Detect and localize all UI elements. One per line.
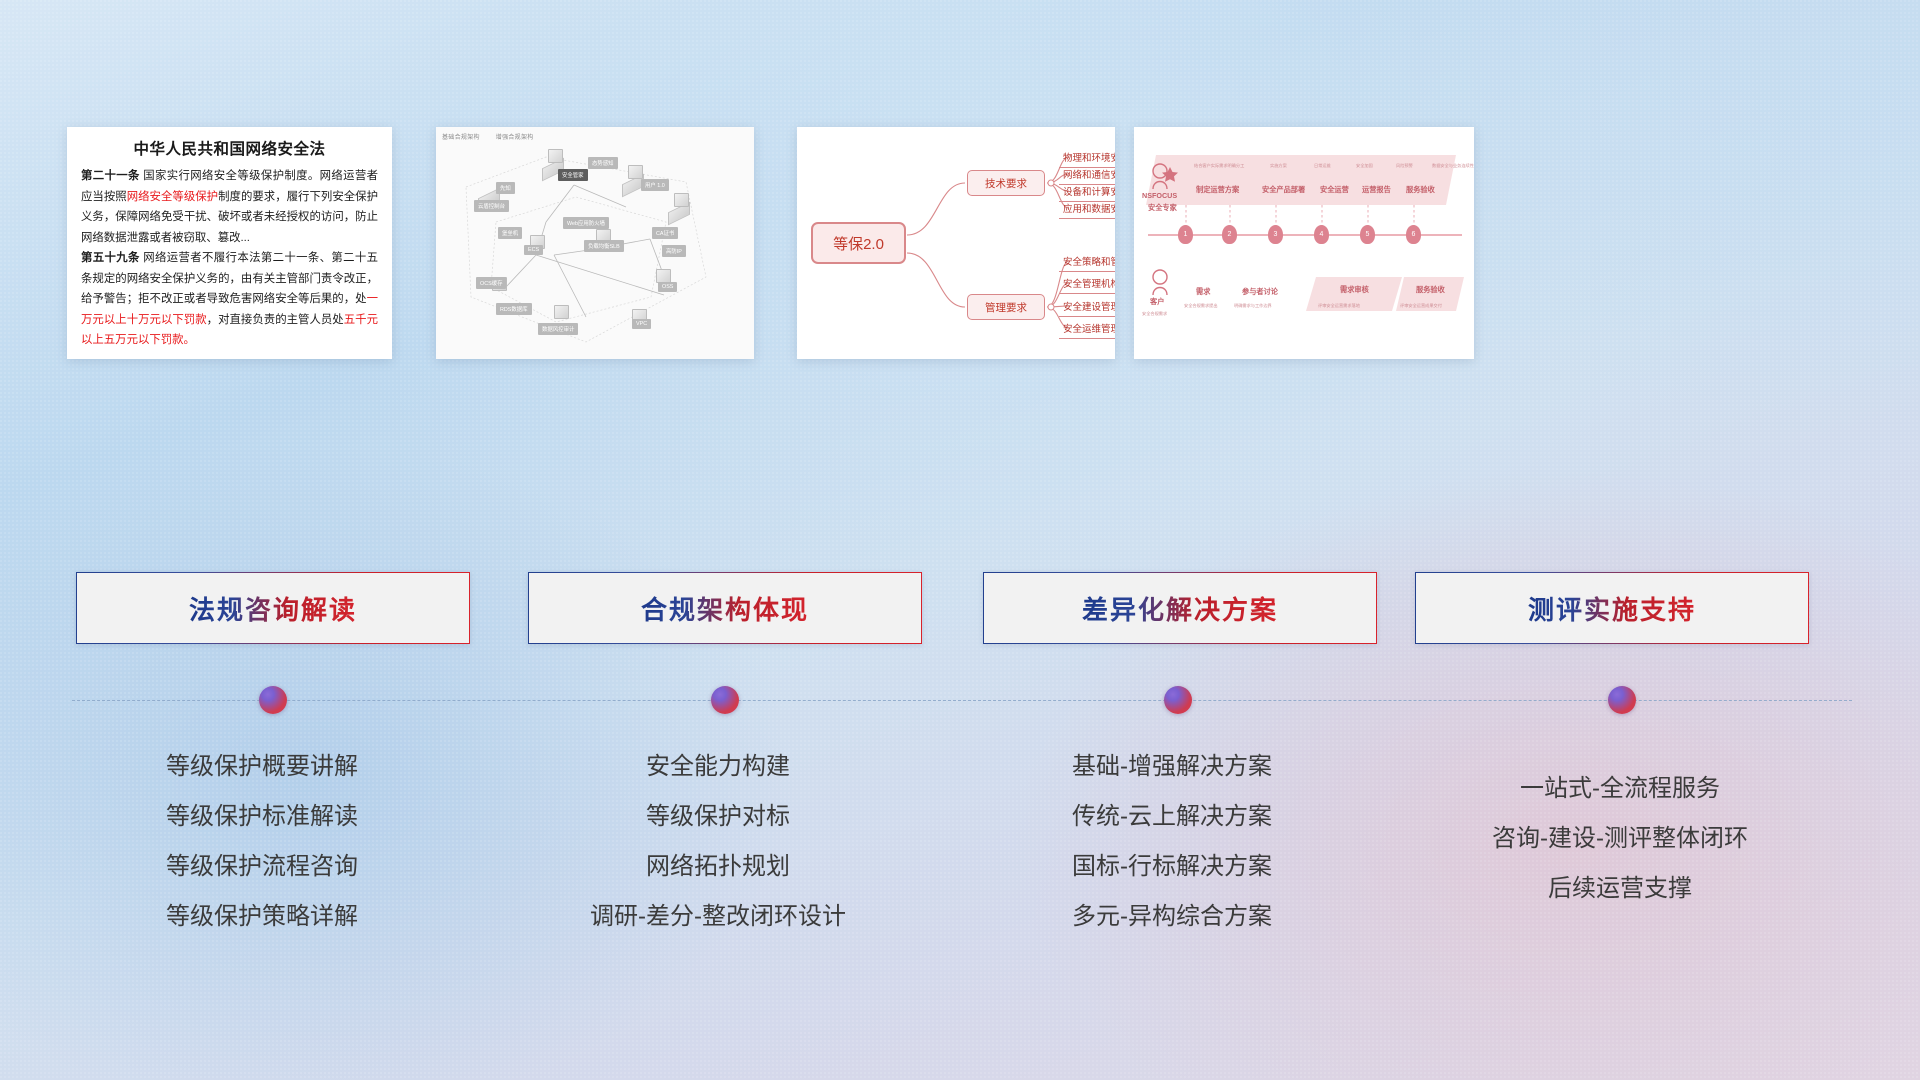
- roadmap-phase-6-sub: 数据安全与业务连续性保障: [1432, 163, 1474, 169]
- architecture-node-label: 数据风控审计: [538, 323, 578, 335]
- banner-label-1: 法规咨询解读: [189, 590, 357, 627]
- list-item: 网络拓扑规划: [528, 842, 908, 892]
- node-box-7: [656, 269, 671, 283]
- architecture-node-label: OSS: [658, 282, 677, 292]
- roadmap-phase-2-title: 安全产品部署: [1262, 185, 1305, 195]
- node-box-1: [548, 149, 563, 163]
- mindmap-branch-technical[interactable]: 技术要求: [967, 170, 1045, 196]
- list-item: 等级保护对标: [528, 792, 908, 842]
- law-document: 中华人民共和国网络安全法 第二十一条 国家实行网络安全等级保护制度。网络运营者应…: [67, 127, 392, 359]
- roadmap-bottom-3-sub: 评审安全运营需求落地: [1318, 303, 1360, 309]
- node-box-8: [554, 305, 569, 319]
- mindmap-root-dengbao[interactable]: 等保2.0: [811, 222, 906, 264]
- article-59-label: 第五十九条: [81, 252, 140, 264]
- banner-label-2: 合规架构体现: [641, 590, 809, 627]
- list-item: 传统-云上解决方案: [982, 792, 1362, 842]
- roadmap-phase-1-sub: 结合客户实际需求明确分工: [1194, 163, 1244, 169]
- timeline-dot-2[interactable]: [711, 686, 739, 714]
- law-article-59: 第五十九条 网络运营者不履行本法第二十一条、第二十五条规定的网络安全保护义务的，…: [81, 248, 378, 351]
- roadmap-customer: 客户: [1150, 297, 1164, 307]
- list-item: 等级保护策略详解: [72, 892, 452, 942]
- roadmap-brand-sub: 安全专家: [1148, 203, 1177, 213]
- architecture-node-label: OCS缓存: [476, 277, 506, 289]
- architecture-node-label: 云盾控制台: [474, 200, 509, 212]
- roadmap-customer-sub: 安全合规需求: [1142, 311, 1167, 317]
- image-card-row: 中华人民共和国网络安全法 第二十一条 国家实行网络安全等级保护制度。网络运营者应…: [0, 127, 1920, 359]
- architecture-node-label: 安全管家: [558, 169, 588, 181]
- architecture-node-label: 先知: [496, 182, 515, 194]
- roadmap-phase-4-sub: 安全加固: [1356, 163, 1373, 169]
- architecture-node-label: 堡垒机: [498, 227, 522, 239]
- banner-differentiated-solution[interactable]: 差异化解决方案: [983, 572, 1377, 644]
- list-item: 咨询-建设-测评整体闭环: [1410, 814, 1830, 864]
- card-dengbao-mindmap[interactable]: 等保2.0 技术要求 管理要求 物理和环境安全 网络和通信安全 设备和计算安全 …: [797, 127, 1115, 359]
- roadmap-phase-5-title: 服务验收: [1406, 185, 1435, 195]
- timeline-dot-1[interactable]: [259, 686, 287, 714]
- architecture-node-label: RDS数据库: [496, 303, 532, 315]
- mindmap-leaf-operation[interactable]: 安全运维管理: [1059, 317, 1115, 339]
- roadmap-diagram: NSFOCUS 安全专家 结合客户实际需求明确分工 制定运营方案 实施方案 安全…: [1134, 127, 1474, 359]
- article-59-text-2: ，对直接负责的主管人员处: [207, 314, 344, 326]
- banner-compliance-architecture[interactable]: 合规架构体现: [528, 572, 922, 644]
- architecture-diagram: 基础合规架构 增强合规架构: [436, 127, 754, 359]
- detail-column-3: 基础-增强解决方案 传统-云上解决方案 国标-行标解决方案 多元-异构综合方案: [982, 742, 1362, 942]
- roadmap-step-3[interactable]: 3: [1268, 225, 1283, 244]
- roadmap-phase-2-sub: 实施方案: [1270, 163, 1287, 169]
- mindmap-branch-management[interactable]: 管理要求: [967, 294, 1045, 320]
- list-item: 国标-行标解决方案: [982, 842, 1362, 892]
- roadmap-phase-3-sub: 日常运维: [1314, 163, 1331, 169]
- timeline-dot-4[interactable]: [1608, 686, 1636, 714]
- architecture-node-label: CA证书: [652, 227, 678, 239]
- law-title: 中华人民共和国网络安全法: [81, 137, 378, 159]
- architecture-node-label: VPC: [632, 319, 651, 329]
- roadmap-brand: NSFOCUS: [1142, 191, 1177, 200]
- list-item: 等级保护概要讲解: [72, 742, 452, 792]
- roadmap-step-4[interactable]: 4: [1314, 225, 1329, 244]
- banner-row: 法规咨询解读 合规架构体现 差异化解决方案 测评实施支持: [0, 572, 1920, 644]
- list-item: 等级保护流程咨询: [72, 842, 452, 892]
- card-nsfocus-roadmap[interactable]: NSFOCUS 安全专家 结合客户实际需求明确分工 制定运营方案 实施方案 安全…: [1134, 127, 1474, 359]
- banner-label-4: 测评实施支持: [1528, 590, 1696, 627]
- mindmap-leaf-application[interactable]: 应用和数据安全: [1059, 197, 1115, 219]
- list-item: 基础-增强解决方案: [982, 742, 1362, 792]
- roadmap-bottom-2-title: 参与者讨论: [1242, 287, 1278, 297]
- roadmap-step-6[interactable]: 6: [1406, 225, 1421, 244]
- article-21-highlight: 网络安全等级保护: [127, 191, 218, 203]
- list-item: 多元-异构综合方案: [982, 892, 1362, 942]
- list-item: 后续运营支撑: [1410, 864, 1830, 914]
- mindmap-diagram: 等保2.0 技术要求 管理要求 物理和环境安全 网络和通信安全 设备和计算安全 …: [797, 127, 1115, 359]
- detail-column-2: 安全能力构建 等级保护对标 网络拓扑规划 调研-差分-整改闭环设计: [528, 742, 908, 942]
- architecture-node-label: 态势感知: [588, 157, 618, 169]
- law-article-21: 第二十一条 国家实行网络安全等级保护制度。网络运营者应当按照网络安全等级保护制度…: [81, 166, 378, 248]
- roadmap-bottom-2-sub: 明确需求与工作边界: [1234, 303, 1272, 309]
- timeline-dot-3[interactable]: [1164, 686, 1192, 714]
- card-compliance-architecture[interactable]: 基础合规架构 增强合规架构: [436, 127, 754, 359]
- timeline-dashed-line: [72, 700, 1852, 701]
- list-item: 安全能力构建: [528, 742, 908, 792]
- mindmap-leaf-policy[interactable]: 安全策略和管理制度: [1059, 250, 1115, 272]
- roadmap-bottom-1-sub: 安全合规需求提出: [1184, 303, 1218, 309]
- mindmap-leaf-construction[interactable]: 安全建设管理: [1059, 295, 1115, 317]
- list-item: 调研-差分-整改闭环设计: [528, 892, 908, 942]
- card-cybersecurity-law[interactable]: 中华人民共和国网络安全法 第二十一条 国家实行网络安全等级保护制度。网络运营者应…: [67, 127, 392, 359]
- roadmap-phase-3-title: 安全运营: [1320, 185, 1349, 195]
- banner-label-3: 差异化解决方案: [1082, 590, 1278, 627]
- roadmap-phase-1-title: 制定运营方案: [1196, 185, 1239, 195]
- roadmap-phase-4-title: 运营报告: [1362, 185, 1391, 195]
- detail-column-1: 等级保护概要讲解 等级保护标准解读 等级保护流程咨询 等级保护策略详解: [72, 742, 452, 942]
- architecture-node-label: ECS: [524, 245, 543, 255]
- node-box-3: [674, 193, 689, 207]
- roadmap-step-1[interactable]: 1: [1178, 225, 1193, 244]
- banner-regulation-consulting[interactable]: 法规咨询解读: [76, 572, 470, 644]
- architecture-node-label: 用户 1.0: [641, 179, 669, 191]
- roadmap-step-2[interactable]: 2: [1222, 225, 1237, 244]
- roadmap-step-5[interactable]: 5: [1360, 225, 1375, 244]
- node-box-2: [628, 165, 643, 179]
- detail-column-4: 一站式-全流程服务 咨询-建设-测评整体闭环 后续运营支撑: [1410, 764, 1830, 914]
- roadmap-bottom-3-title: 需求审核: [1340, 285, 1369, 295]
- roadmap-phase-5-sub: 风险预警: [1396, 163, 1413, 169]
- roadmap-bottom-4-sub: 评审安全运营成果交付: [1400, 303, 1442, 309]
- article-21-label: 第二十一条: [81, 170, 140, 182]
- list-item: 一站式-全流程服务: [1410, 764, 1830, 814]
- list-item: 等级保护标准解读: [72, 792, 452, 842]
- architecture-node-label: 负载均衡SLB: [584, 240, 624, 252]
- mindmap-leaf-org[interactable]: 安全管理机构和人员: [1059, 272, 1115, 294]
- banner-evaluation-support[interactable]: 测评实施支持: [1415, 572, 1809, 644]
- roadmap-bottom-4-title: 服务验收: [1416, 285, 1445, 295]
- architecture-node-label: Web应用防火墙: [563, 217, 609, 229]
- architecture-node-label: 高防IP: [662, 245, 686, 257]
- roadmap-bottom-1-title: 需求: [1196, 287, 1210, 297]
